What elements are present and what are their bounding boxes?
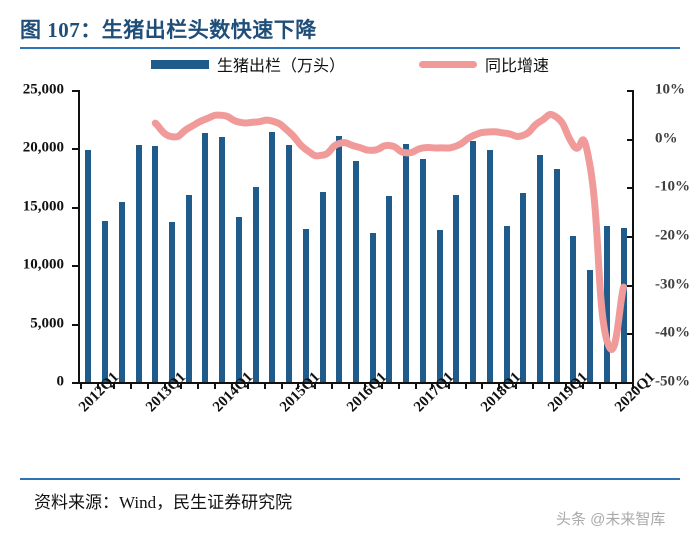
x-axis-tick: [548, 382, 550, 389]
x-axis-tick: [348, 382, 350, 389]
legend-item-line: 同比增速: [419, 52, 549, 76]
title-divider: [20, 47, 680, 49]
x-axis-tick: [532, 382, 534, 389]
legend-label-bars: 生猪出栏（万头）: [217, 52, 345, 76]
chart-legend: 生猪出栏（万头） 同比增速: [0, 52, 700, 76]
x-axis-tick: [331, 382, 333, 389]
figure-title-block: 图 107：生猪出栏头数快速下降: [20, 14, 680, 49]
page-title: 图 107：生猪出栏头数快速下降: [20, 14, 680, 44]
left-axis-tick-label: 25,000: [23, 83, 64, 98]
x-axis-tick: [197, 382, 199, 389]
legend-line-swatch-icon: [419, 61, 477, 68]
legend-item-bars: 生猪出栏（万头）: [151, 52, 345, 76]
x-axis-tick: [415, 382, 417, 389]
x-axis-tick: [264, 382, 266, 389]
right-axis-tick-label: 0%: [655, 131, 678, 146]
left-axis-tick-label: 20,000: [23, 141, 64, 156]
x-axis-tick: [481, 382, 483, 389]
x-axis-labels: 2012Q12013Q12014Q12015Q12016Q12017Q12018…: [0, 398, 700, 468]
x-axis-tick: [147, 382, 149, 389]
left-axis-tick-label: 10,000: [23, 258, 64, 273]
x-axis-tick: [398, 382, 400, 389]
x-axis-tick: [599, 382, 601, 389]
line-series: [80, 90, 632, 382]
right-axis-tick-label: 10%: [655, 83, 685, 98]
x-axis-tick: [615, 382, 617, 389]
right-axis-tick-label: -50%: [655, 375, 690, 390]
source-note: 资料来源：Wind，民生证券研究院: [34, 488, 292, 513]
x-axis-tick: [281, 382, 283, 389]
x-axis-tick: [214, 382, 216, 389]
left-axis-tick-label: 0: [57, 375, 65, 390]
right-axis-tick-label: -40%: [655, 326, 690, 341]
plot-area: 05,00010,00015,00020,00025,000 10%0%-10%…: [0, 84, 700, 394]
footer-divider: [20, 478, 680, 480]
left-axis-tick-label: 5,000: [30, 316, 64, 331]
left-axis-tick-label: 15,000: [23, 199, 64, 214]
right-axis-tick-label: -20%: [655, 229, 690, 244]
watermark: 头条 @未来智库: [556, 508, 665, 529]
x-axis-tick: [130, 382, 132, 389]
growth-rate-line: [155, 114, 623, 349]
right-axis-spine: [632, 90, 634, 382]
x-axis-tick: [80, 382, 82, 389]
figure-container: 图 107：生猪出栏头数快速下降 生猪出栏（万头） 同比增速 05,00010,…: [0, 0, 700, 538]
legend-label-line: 同比增速: [485, 52, 549, 76]
legend-bar-swatch-icon: [151, 60, 209, 69]
right-axis-tick-label: -30%: [655, 277, 690, 292]
right-axis-tick-label: -10%: [655, 180, 690, 195]
x-axis-tick: [465, 382, 467, 389]
